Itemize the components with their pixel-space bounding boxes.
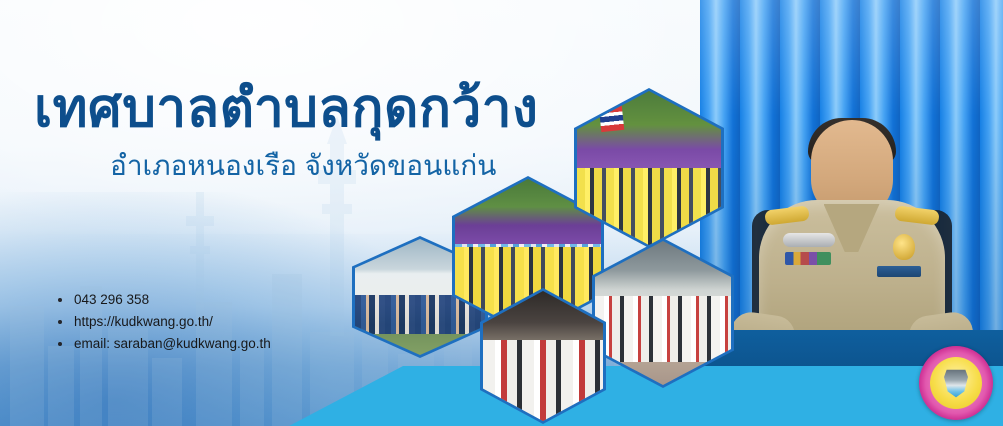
contact-list: 043 296 358 https://kudkwang.go.th/ emai…: [56, 289, 271, 355]
wing-insignia: [783, 233, 835, 247]
official-uniform: [759, 200, 945, 350]
contact-item-phone: 043 296 358: [56, 289, 271, 311]
municipality-seal: [919, 346, 993, 420]
contact-item-email[interactable]: email: saraban@kudkwang.go.th: [56, 333, 271, 355]
medal-insignia: [893, 234, 915, 260]
name-tag: [877, 266, 921, 277]
mayor-portrait: [700, 0, 1003, 388]
epaulet-left: [764, 205, 810, 225]
contact-email-link[interactable]: email: saraban@kudkwang.go.th: [74, 336, 271, 351]
ribbon-bar: [785, 252, 831, 265]
seal-shield-emblem: [943, 368, 969, 398]
seal-inner-disc: [930, 357, 982, 409]
page-title: เทศบาลตำบลกุดกว้าง: [34, 78, 634, 141]
seated-official: [727, 50, 977, 350]
contact-item-website[interactable]: https://kudkwang.go.th/: [56, 311, 271, 333]
photo-crowd-row: [595, 296, 731, 362]
contact-phone-text: 043 296 358: [74, 292, 149, 307]
municipality-banner: เทศบาลตำบลกุดกว้าง อำเภอหนองเรือ จังหวัด…: [0, 0, 1003, 426]
headline-block: เทศบาลตำบลกุดกว้าง อำเภอหนองเรือ จังหวัด…: [34, 78, 634, 182]
contact-website-link[interactable]: https://kudkwang.go.th/: [74, 314, 213, 329]
page-subtitle: อำเภอหนองเรือ จังหวัดขอนแก่น: [110, 149, 634, 183]
epaulet-right: [894, 205, 940, 225]
